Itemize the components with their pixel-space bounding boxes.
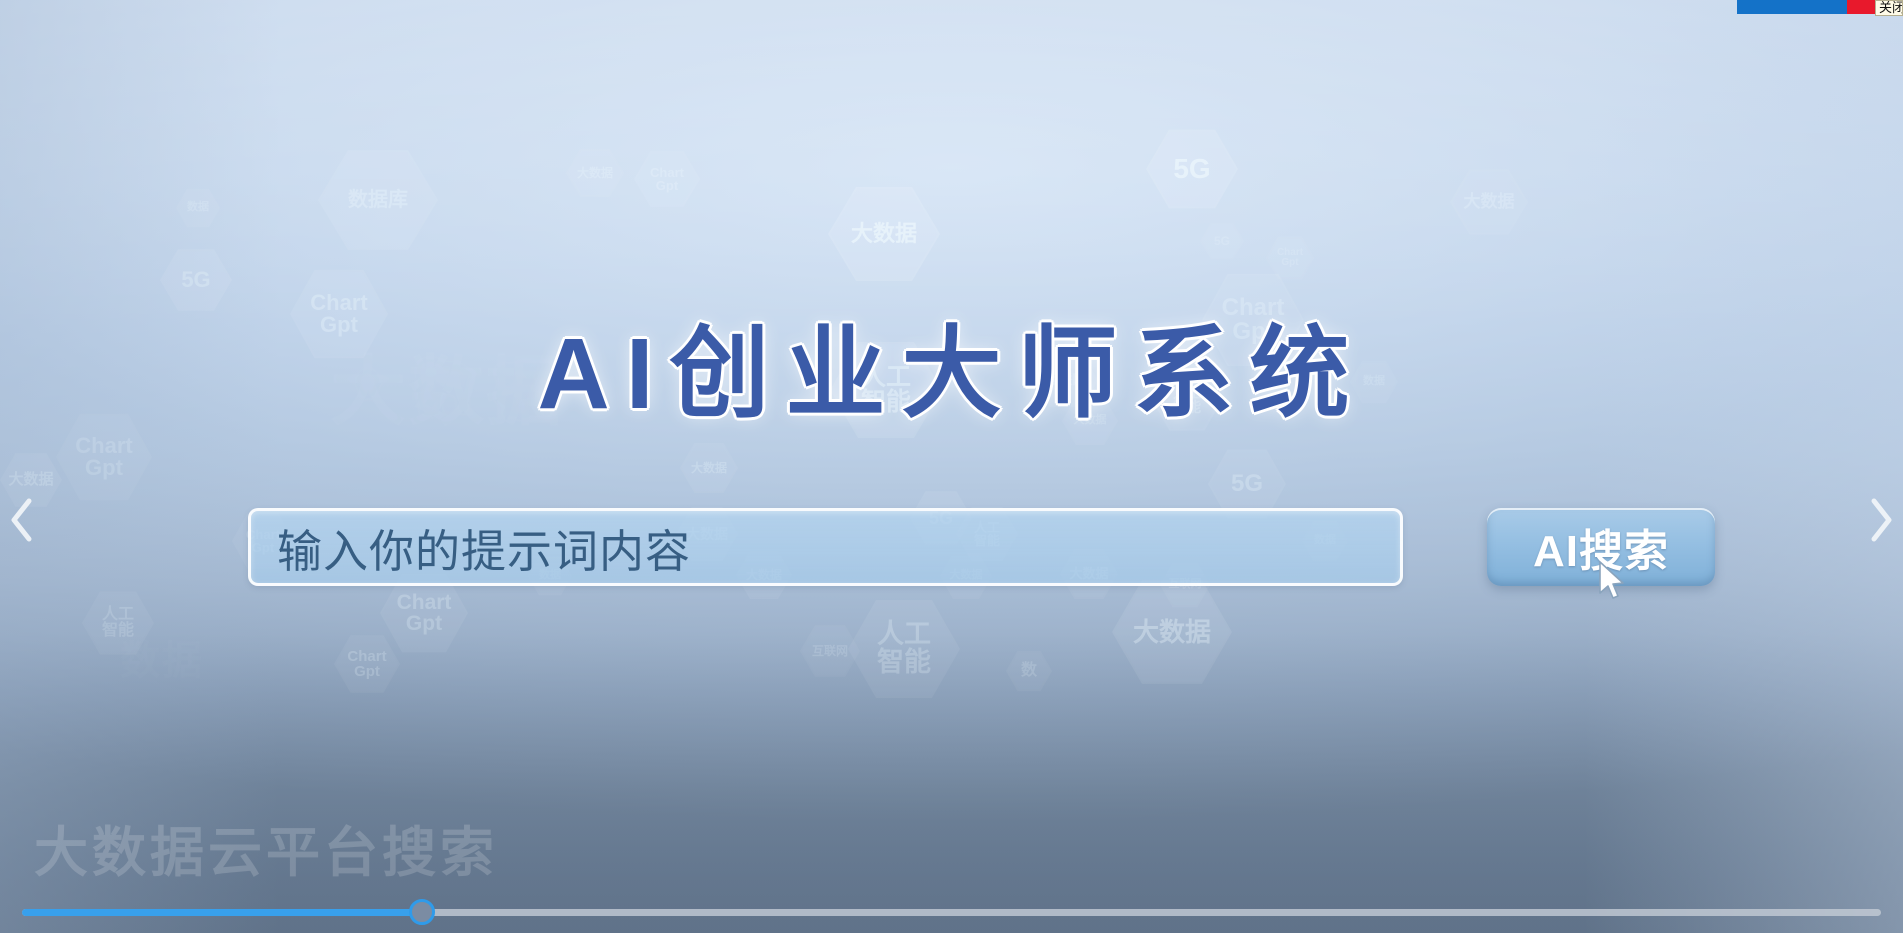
progress-slider-track[interactable] bbox=[22, 909, 1881, 916]
bottom-watermark-text: 大数据云平台搜索 bbox=[34, 808, 498, 887]
background-hexagon-label: Chart Gpt bbox=[397, 592, 452, 635]
background-hexagon-label: 互联网 bbox=[812, 645, 848, 657]
carousel-prev-button[interactable] bbox=[0, 489, 46, 551]
background-hexagon: 大数据 bbox=[566, 148, 624, 198]
background-hexagon: 大数据 bbox=[828, 185, 940, 283]
background-hexagon-label: 大数据 bbox=[691, 462, 727, 474]
background-hexagon-label: 5G bbox=[1214, 235, 1230, 247]
close-tooltip: 关闭 bbox=[1875, 0, 1903, 16]
hexagon-shape-icon bbox=[334, 634, 400, 694]
background-hexagon: 数据 bbox=[176, 188, 220, 228]
carousel-next-button[interactable] bbox=[1857, 489, 1903, 551]
chevron-left-icon bbox=[10, 497, 36, 543]
background-hexagon-label: Chart Gpt bbox=[1277, 248, 1303, 268]
background-hexagon-decorations: 数据库大数据5G大数据大数据Chart Gpt数据5GChart GptChar… bbox=[0, 0, 1903, 933]
background-hexagon: Chart Gpt bbox=[634, 150, 700, 208]
background-watermark-words: 大数据数据 bbox=[0, 0, 1903, 933]
background-hexagon-label: 5G bbox=[1231, 472, 1263, 496]
progress-slider-fill bbox=[22, 909, 422, 916]
background-hexagon: Chart Gpt bbox=[1266, 236, 1314, 280]
hexagon-shape-icon bbox=[1200, 222, 1244, 260]
hexagon-shape-icon bbox=[1146, 128, 1238, 210]
background-hexagon: 大数据 bbox=[680, 442, 738, 494]
background-hexagon-label: 人工 智能 bbox=[877, 621, 931, 676]
background-hexagon: 数据库 bbox=[318, 148, 438, 252]
background-hexagon-label: 大数据 bbox=[577, 167, 613, 179]
background-hexagon-label: 大数据 bbox=[1464, 193, 1515, 210]
ai-search-button[interactable]: AI搜索 bbox=[1487, 508, 1715, 586]
background-word: 数据 bbox=[120, 628, 204, 686]
taskbar-blue-band bbox=[1737, 0, 1847, 14]
background-hexagon: 人工 智能 bbox=[848, 598, 960, 700]
background-hexagon-label: 数据库 bbox=[348, 190, 408, 210]
top-haze-overlay bbox=[0, 0, 1903, 330]
background-hexagon-label: 大数据 bbox=[1133, 619, 1211, 646]
hexagon-shape-icon bbox=[1112, 578, 1232, 686]
hexagon-shape-icon bbox=[318, 148, 438, 252]
ai-search-button-label: AI搜索 bbox=[1533, 515, 1669, 579]
background-hexagon: 数 bbox=[1006, 650, 1052, 692]
bottom-haze-overlay bbox=[0, 633, 1903, 933]
page-title: AI创业大师系统 bbox=[0, 292, 1903, 437]
hexagon-shape-icon bbox=[176, 188, 220, 228]
background-hexagon-label: 数 bbox=[1021, 663, 1037, 679]
background-hexagon-label: Chart Gpt bbox=[75, 435, 132, 480]
background-hexagon: Chart Gpt bbox=[334, 634, 400, 694]
background-hexagon-label: 数据 bbox=[187, 202, 209, 213]
background-hexagon-label: 大数据 bbox=[8, 472, 53, 487]
background-hexagon-label: 人工 智能 bbox=[102, 607, 134, 640]
prompt-input[interactable]: 输入你的提示词内容 bbox=[248, 508, 1403, 586]
hexagon-shape-icon bbox=[566, 148, 624, 198]
progress-slider[interactable] bbox=[0, 891, 1903, 933]
background-hexagon-label: Chart Gpt bbox=[347, 649, 386, 680]
hexagon-shape-icon bbox=[82, 590, 154, 656]
app-stage: 数据库大数据5G大数据大数据Chart Gpt数据5GChart GptChar… bbox=[0, 0, 1903, 933]
hexagon-shape-icon bbox=[1266, 236, 1314, 280]
hexagon-shape-icon bbox=[1450, 168, 1528, 236]
hexagon-shape-icon bbox=[634, 150, 700, 208]
background-hexagon: 大数据 bbox=[1450, 168, 1528, 236]
hexagon-shape-icon bbox=[680, 442, 738, 494]
prompt-input-placeholder: 输入你的提示词内容 bbox=[277, 515, 691, 580]
background-hexagon: 人工 智能 bbox=[82, 590, 154, 656]
background-hexagon-label: 5G bbox=[1173, 155, 1210, 184]
background-hexagon: 大数据 bbox=[1112, 578, 1232, 686]
progress-slider-thumb[interactable] bbox=[409, 899, 435, 925]
right-haze-overlay bbox=[1583, 0, 1903, 933]
background-hexagon: 5G bbox=[1146, 128, 1238, 210]
left-haze-overlay bbox=[0, 0, 280, 933]
hexagon-shape-icon bbox=[1006, 650, 1052, 692]
background-hexagon-label: 5G bbox=[181, 269, 210, 291]
chevron-right-icon bbox=[1867, 497, 1893, 543]
hexagon-shape-icon bbox=[848, 598, 960, 700]
os-top-strip: 关闭 bbox=[1737, 0, 1903, 16]
search-row: 输入你的提示词内容 AI搜索 bbox=[248, 508, 1715, 586]
hexagon-shape-icon bbox=[828, 185, 940, 283]
background-hexagon-label: Chart Gpt bbox=[650, 166, 684, 193]
background-hexagon: 互联网 bbox=[800, 624, 860, 678]
background-hexagon: 5G bbox=[1200, 222, 1244, 260]
hexagon-shape-icon bbox=[800, 624, 860, 678]
close-button-red[interactable] bbox=[1847, 0, 1875, 14]
background-hexagon-label: 大数据 bbox=[851, 223, 917, 245]
